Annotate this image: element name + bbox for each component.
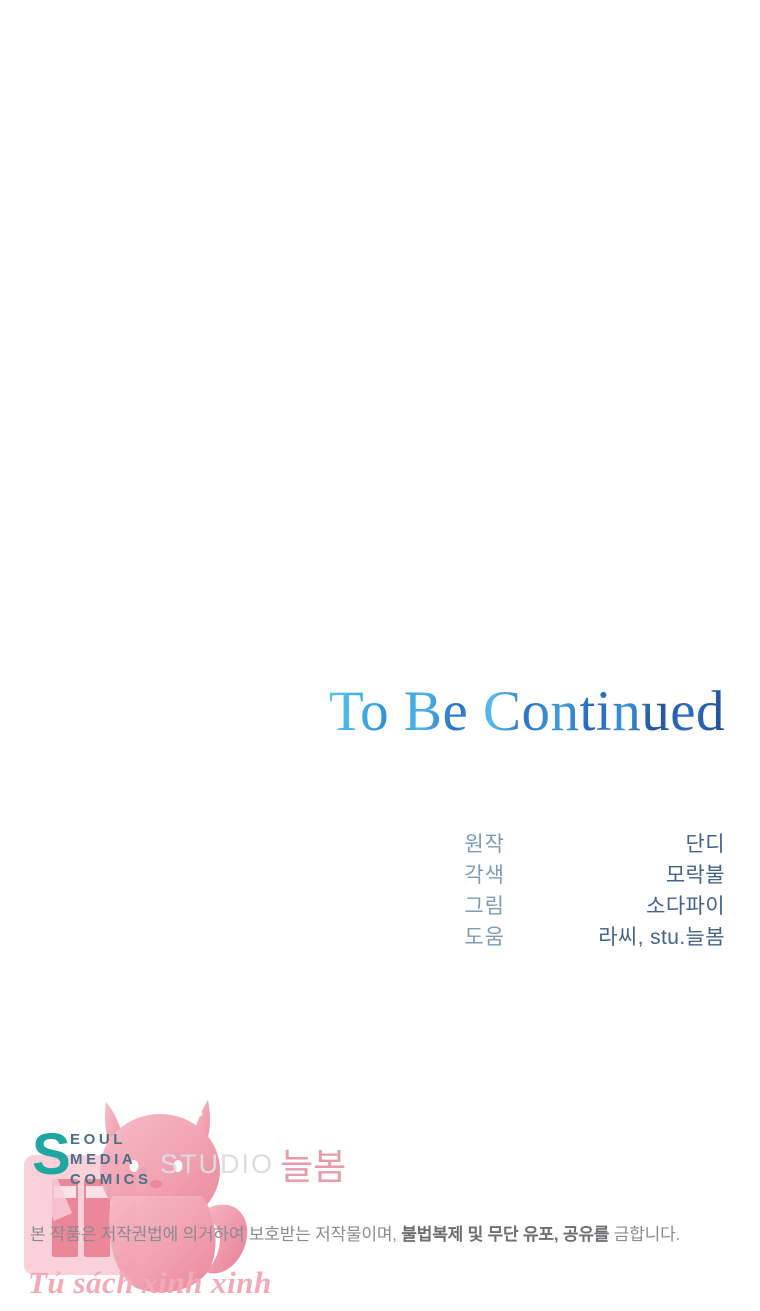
scanlation-watermark: Tủ sách xinh xinh <box>28 1265 272 1301</box>
to-be-continued-block: To Be Continued <box>0 683 725 740</box>
smc-s-mark: S <box>32 1126 69 1184</box>
seoul-media-comics-logo: S EOUL MEDIA COMICS ® <box>32 1124 172 1194</box>
credit-value-art: 소다파이 <box>505 890 725 920</box>
copyright-emphasis: 불법복제 및 무단 유포, 공유를 <box>401 1225 609 1244</box>
copyright-notice: 본 작품은 저작권법에 의거하여 보호받는 저작물이며, 불법복제 및 무단 유… <box>30 1220 680 1245</box>
credit-label-art: 그림 <box>443 890 505 920</box>
credit-value-adaptation: 모락불 <box>505 859 725 889</box>
registered-trademark-icon: ® <box>140 1166 147 1176</box>
credit-label-original: 원작 <box>443 828 505 858</box>
smc-line-eoul: EOUL <box>70 1130 152 1150</box>
studio-name: 늘봄 <box>280 1138 346 1190</box>
studio-neulbom-logo: STUDIO 늘봄 <box>160 1138 346 1190</box>
studio-word: STUDIO <box>160 1149 274 1180</box>
credit-row: 각색 모락불 <box>0 859 725 890</box>
copyright-prefix: 본 작품은 저작권법에 의거하여 보호받는 저작물이며, <box>30 1225 401 1244</box>
credit-value-assist: 라씨, stu.늘봄 <box>505 921 725 951</box>
credits-list: 원작 단디 각색 모락불 그림 소다파이 도움 라씨, stu.늘봄 <box>0 828 725 952</box>
smc-wordmark-lines: EOUL MEDIA COMICS <box>70 1130 152 1190</box>
credit-row: 원작 단디 <box>0 828 725 859</box>
artwork-blank-area <box>0 0 760 683</box>
credit-label-adaptation: 각색 <box>443 859 505 889</box>
credit-row: 도움 라씨, stu.늘봄 <box>0 921 725 952</box>
credit-row: 그림 소다파이 <box>0 890 725 921</box>
to-be-continued-text: To Be Continued <box>329 683 725 740</box>
copyright-suffix: 금합니다. <box>609 1225 680 1244</box>
credit-value-original: 단디 <box>505 828 725 858</box>
comic-episode-end-page: To Be Continued 원작 단디 각색 모락불 그림 소다파이 도움 … <box>0 0 760 1311</box>
credit-label-assist: 도움 <box>443 921 505 951</box>
footer-logo-block: S EOUL MEDIA COMICS ® STUDIO 늘봄 본 작품은 저작… <box>0 1060 760 1311</box>
